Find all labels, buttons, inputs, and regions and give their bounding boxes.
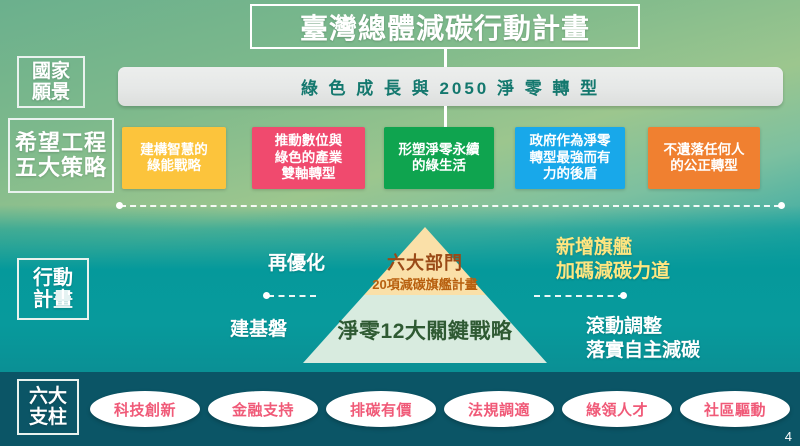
divider-pyramid-left (268, 295, 316, 297)
annotation-rolling-adjustment: 滾動調整 落實自主減碳 (586, 315, 700, 364)
divider-pyramid-dot-left (263, 292, 270, 299)
strategy-box-dual-axis[interactable]: 推動數位與綠色的產業雙軸轉型 (252, 127, 365, 189)
strategy-box-line-1: 形塑淨零永續 (399, 142, 480, 158)
connector-vision-to-strategies (444, 106, 447, 128)
pillar-regulatory-adaption[interactable]: 法規調適 (444, 391, 554, 427)
strategy-box-line-2: 的公正轉型 (664, 158, 745, 174)
section-label-line2: 計畫 (33, 289, 73, 311)
section-label-line2: 願景 (32, 82, 70, 103)
connector-title-to-vision (444, 49, 447, 69)
strategy-box-line-3: 雙軸轉型 (275, 166, 343, 182)
section-label-line2: 五大策略 (15, 156, 107, 181)
pillar-community-driven[interactable]: 社區驅動 (680, 391, 790, 427)
strategy-box-green-energy[interactable]: 建構智慧的綠能戰略 (122, 127, 226, 189)
annotation-build-foundation: 建基磐 (230, 318, 287, 342)
section-label-line1: 行動 (33, 267, 73, 289)
strategy-pyramid: 六大部門 20項減碳旗艦計畫 淨零12大關鍵戰略 (303, 227, 547, 363)
strategy-box-line-1: 政府作為淨零 (530, 133, 611, 149)
strategy-box-label: 政府作為淨零轉型最強而有力的後盾 (530, 133, 611, 182)
section-label-line1: 六大 (29, 386, 67, 407)
strategy-box-line-3: 力的後盾 (530, 166, 611, 182)
divider-strategies (120, 205, 780, 207)
pillar-financial-support[interactable]: 金融支持 (208, 391, 318, 427)
annotation-reoptimize: 再優化 (268, 252, 325, 276)
section-label-five-strategies: 希望工程 五大策略 (8, 118, 114, 193)
strategy-box-government[interactable]: 政府作為淨零轉型最強而有力的後盾 (515, 127, 625, 189)
pyramid-lower-title: 淨零12大關鍵戰略 (303, 315, 547, 345)
annotation-new-flagship: 新增旗艦 加碼減碳力道 (556, 236, 670, 285)
pyramid-upper-title: 六大部門 (303, 249, 547, 275)
divider-strategies-dot-right (778, 202, 785, 209)
section-label-action-plan: 行動 計畫 (17, 258, 89, 320)
slide-canvas: 臺灣總體減碳行動計畫 國家 願景 綠 色 成 長 與 2050 淨 零 轉 型 … (0, 0, 800, 446)
pyramid-upper-subtitle: 20項減碳旗艦計畫 (303, 274, 547, 293)
divider-strategies-dot-left (116, 202, 123, 209)
section-label-line2: 支柱 (29, 407, 67, 428)
strategy-box-label: 推動數位與綠色的產業雙軸轉型 (275, 133, 343, 182)
national-vision-bar: 綠 色 成 長 與 2050 淨 零 轉 型 (118, 67, 783, 106)
pillar-tech-innovation[interactable]: 科技創新 (90, 391, 200, 427)
strategy-box-line-1: 建構智慧的 (140, 142, 208, 158)
annotation-new-flagship-line1: 新增旗艦 (556, 236, 670, 260)
pillar-carbon-pricing[interactable]: 排碳有價 (326, 391, 436, 427)
page-number: 4 (785, 429, 792, 444)
strategy-box-line-1: 推動數位與 (275, 133, 343, 149)
strategy-box-line-2: 綠色的產業 (275, 150, 343, 166)
page-title-box: 臺灣總體減碳行動計畫 (250, 4, 640, 49)
divider-pyramid-right (534, 295, 624, 297)
strategy-box-line-1: 不遺落任何人 (664, 142, 745, 158)
strategy-box-just-transition[interactable]: 不遺落任何人的公正轉型 (648, 127, 760, 189)
pillar-green-collar-talent[interactable]: 綠領人才 (562, 391, 672, 427)
strategy-box-line-2: 轉型最強而有 (530, 150, 611, 166)
annotation-rolling-adjustment-line1: 滾動調整 (586, 315, 700, 339)
annotation-new-flagship-line2: 加碼減碳力道 (556, 260, 670, 284)
strategy-box-label: 形塑淨零永續的綠生活 (399, 142, 480, 175)
strategy-box-green-life[interactable]: 形塑淨零永續的綠生活 (384, 127, 494, 189)
national-vision-text: 綠 色 成 長 與 2050 淨 零 轉 型 (301, 74, 600, 99)
section-label-line1: 國家 (32, 61, 70, 82)
strategy-box-line-2: 綠能戰略 (140, 158, 208, 174)
section-label-six-pillars: 六大 支柱 (17, 379, 79, 435)
strategy-box-line-2: 的綠生活 (399, 158, 480, 174)
section-label-line1: 希望工程 (15, 131, 107, 156)
strategy-box-label: 不遺落任何人的公正轉型 (664, 142, 745, 175)
section-label-national-vision: 國家 願景 (17, 56, 85, 108)
page-title: 臺灣總體減碳行動計畫 (300, 7, 590, 47)
strategy-box-label: 建構智慧的綠能戰略 (140, 142, 208, 175)
divider-pyramid-dot-right (620, 292, 627, 299)
annotation-rolling-adjustment-line2: 落實自主減碳 (586, 339, 700, 363)
